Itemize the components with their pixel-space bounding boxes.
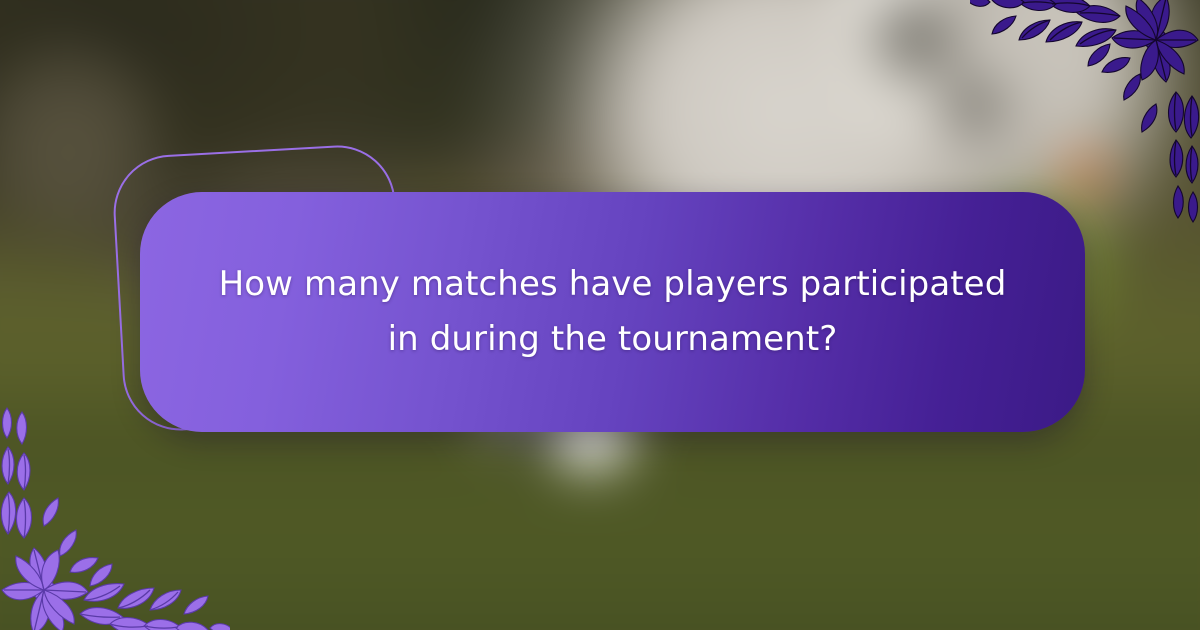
social-card-canvas: How many matches have players participat… [0, 0, 1200, 630]
question-card: How many matches have players participat… [140, 192, 1085, 432]
question-text: How many matches have players participat… [213, 257, 1013, 367]
floral-ornament-bottom-left [0, 400, 230, 630]
